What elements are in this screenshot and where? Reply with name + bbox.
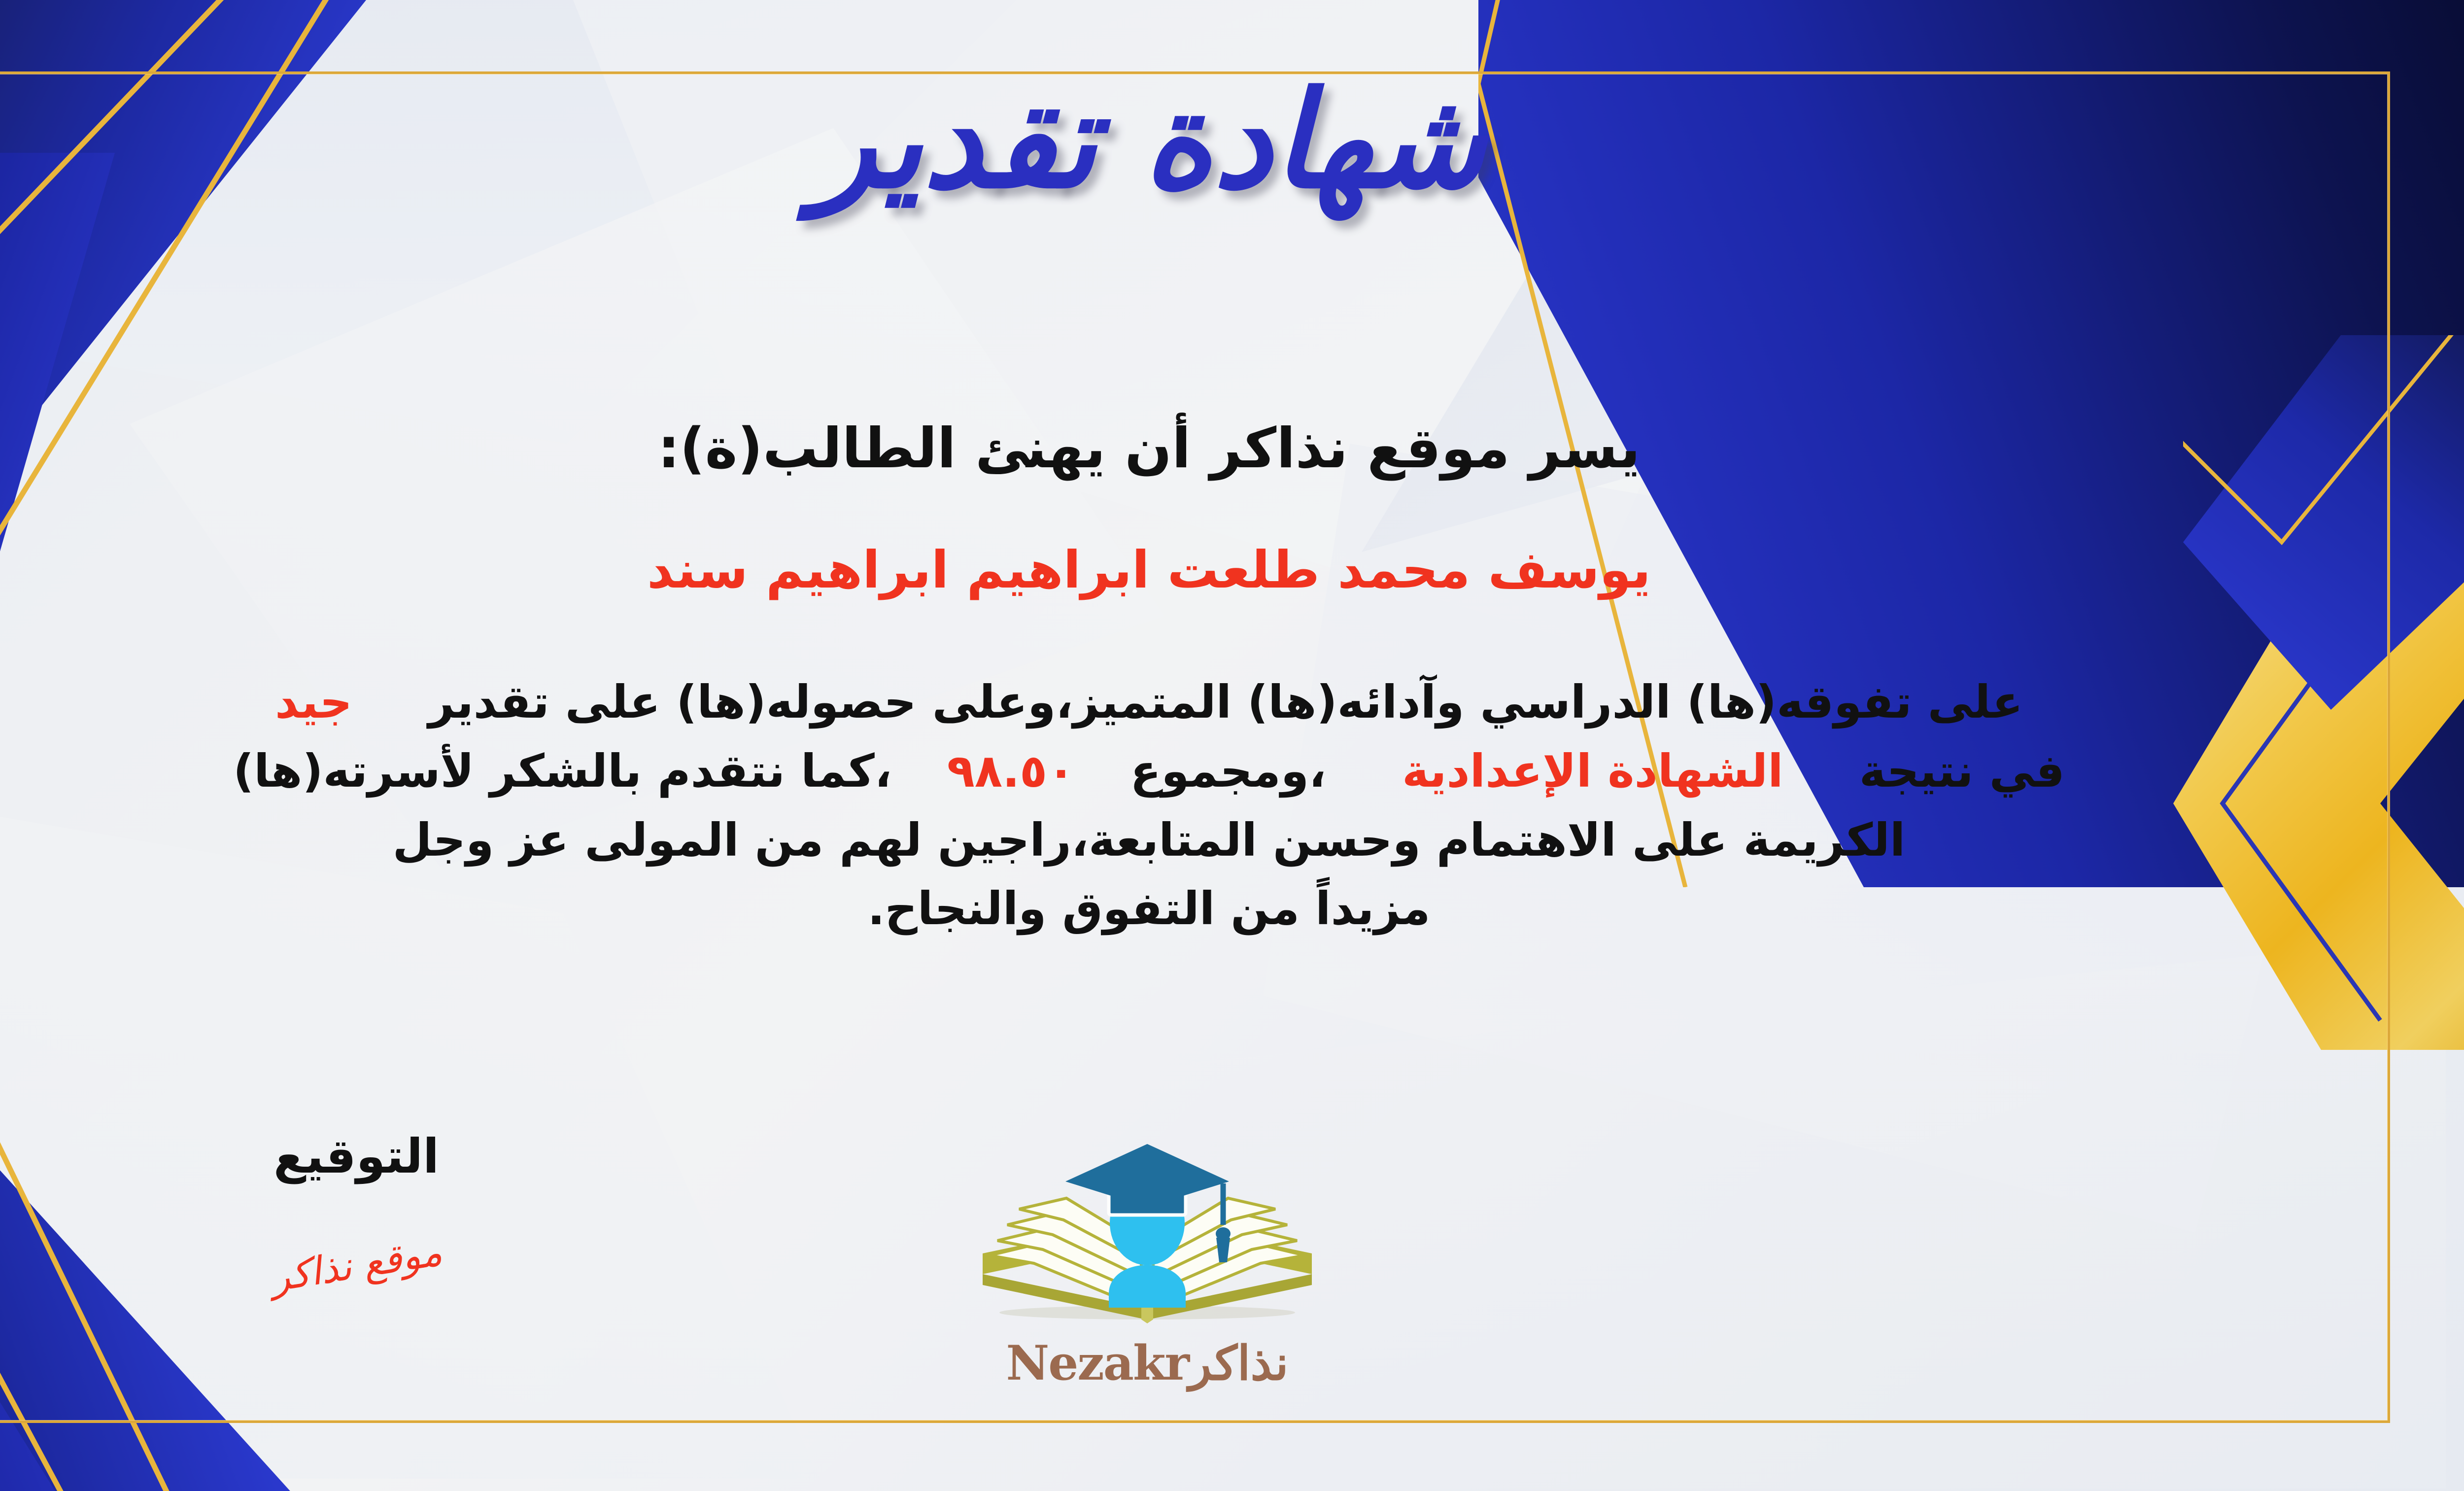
student-name: يوسف محمد طلعت ابراهيم ابراهيم سند	[0, 540, 2464, 600]
logo-wordmark: نذاكرNezakr	[935, 1335, 1359, 1391]
body-line-achievement: على تفوقه(ها) الدراسي وآدائه(ها) المتميز…	[0, 668, 2346, 737]
achievement-text: على تفوقه(ها) الدراسي وآدائه(ها) المتميز…	[428, 676, 2023, 728]
signature-script: موقع نذاكر	[268, 1230, 445, 1301]
greeting-text: يسر موقع نذاكر أن يهنئ الطالب(ة):	[0, 416, 2464, 481]
signature-label: التوقيع	[179, 1129, 534, 1184]
certificate-content: شهادة تقدير يسر موقع نذاكر أن يهنئ الطال…	[0, 0, 2464, 1491]
total-score: ٩٨.٥٠	[947, 745, 1075, 798]
body-line-exam: في نتيجة الشهادة الإعدادية ،ومجموع ٩٨.٥٠…	[0, 737, 2346, 806]
logo-text-arabic: نذاكر	[1189, 1335, 1288, 1391]
grade-value: جيد	[275, 676, 352, 728]
exam-name: الشهادة الإعدادية	[1402, 745, 1783, 798]
total-label-text: ،ومجموع	[1130, 745, 1326, 798]
thanks-text: ،كما نتقدم بالشكر لأسرته(ها)	[233, 745, 892, 798]
signature-area: التوقيع موقع نذاكر	[179, 1129, 534, 1287]
logo-text-latin: Nezakr	[1006, 1335, 1189, 1391]
logo-graphic	[935, 1126, 1359, 1333]
graduation-book-logo-icon	[935, 1126, 1359, 1333]
exam-prefix-text: في نتيجة	[1859, 745, 2065, 798]
body-line-closing: مزيداً من التفوق والنجاح.	[0, 874, 2346, 943]
site-logo: نذاكرNezakr	[935, 1126, 1359, 1422]
page-title: شهادة تقدير	[0, 74, 2464, 207]
body-line-family: الكريمة على الاهتمام وحسن المتابعة،راجين…	[0, 806, 2346, 875]
certificate-body: على تفوقه(ها) الدراسي وآدائه(ها) المتميز…	[0, 668, 2346, 943]
certificate-page: شهادة تقدير يسر موقع نذاكر أن يهنئ الطال…	[0, 0, 2464, 1491]
